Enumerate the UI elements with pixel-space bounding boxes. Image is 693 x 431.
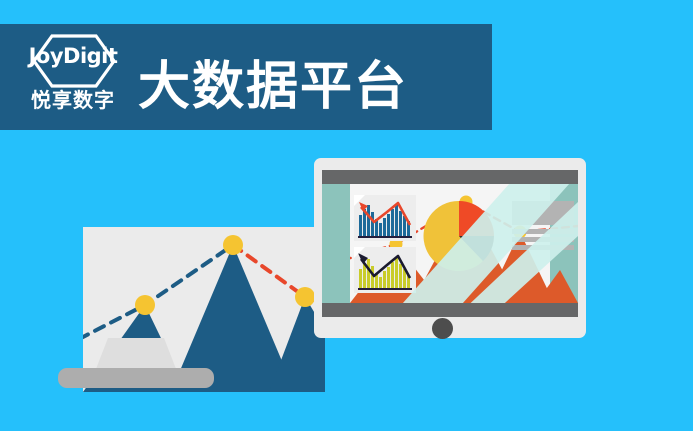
logo-wordmark: JoyDigit (14, 44, 132, 68)
pie-slice-red (459, 201, 494, 236)
axis-line (358, 236, 412, 238)
blue-bar-chart-card (354, 195, 416, 241)
placeholder-line (512, 237, 574, 242)
placeholder-block (512, 201, 574, 225)
placeholder-line (512, 229, 574, 234)
axis-line (358, 288, 412, 290)
yellow-bar-chart-card (354, 247, 416, 293)
monitor-camera-dot (432, 318, 453, 339)
monitor-top-bezel (322, 170, 578, 184)
placeholder-line (512, 245, 574, 250)
monitor-screen (322, 184, 578, 303)
page-title: 大数据平台 (138, 58, 408, 116)
illustration-canvas: JoyDigit 悦享数字 大数据平台 (0, 0, 693, 431)
data-marker (135, 295, 155, 315)
desktop-monitor (314, 158, 586, 338)
text-placeholder-card (512, 201, 574, 247)
monitor-stand-base (58, 368, 214, 388)
page-fold-corner-icon (354, 247, 365, 258)
three-slice-pie-chart (422, 199, 496, 273)
monitor-bottom-bezel (322, 303, 578, 317)
page-fold-corner-icon (354, 195, 365, 206)
header-banner: JoyDigit 悦享数字 大数据平台 (0, 24, 492, 130)
logo-subtitle: 悦享数字 (14, 84, 132, 113)
brand-logo: JoyDigit 悦享数字 (14, 32, 132, 122)
screen-accent-band-left (322, 184, 350, 303)
data-marker (295, 287, 315, 307)
data-marker (223, 235, 243, 255)
